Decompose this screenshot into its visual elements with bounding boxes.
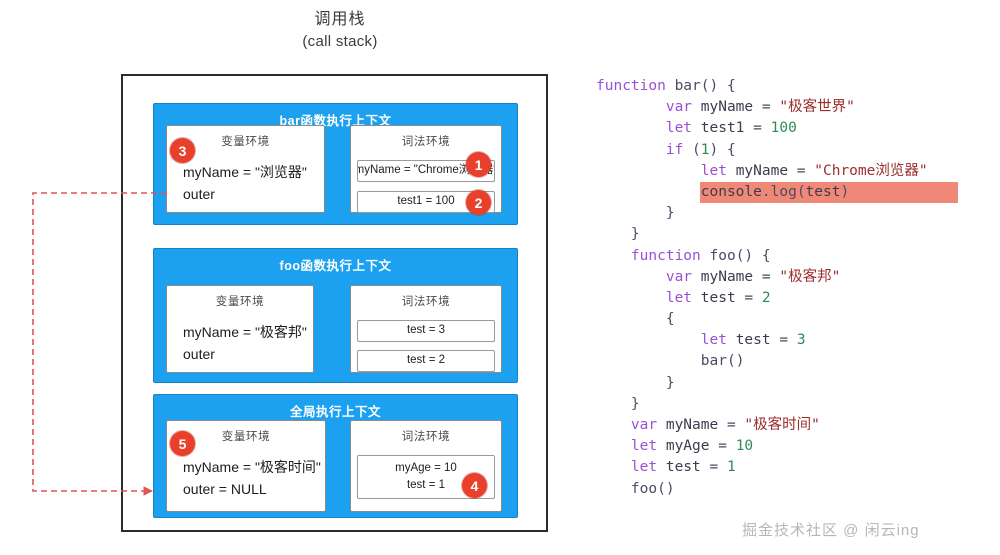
code-line: if (1) { [596, 140, 990, 161]
code-line: } [596, 224, 990, 245]
code-line: let myAge = 10 [596, 436, 990, 457]
code-line: let test = 3 [596, 330, 990, 351]
code-line: var myName = "极客世界" [596, 97, 990, 118]
variable-environment-bindings-global: myName = "极客时间" outer = NULL [183, 457, 317, 500]
lexical-slot-foo-test2: test = 2 [357, 350, 495, 372]
code-line: } [596, 203, 990, 224]
step-badge-3: 3 [170, 138, 195, 163]
step-badge-1: 1 [466, 152, 491, 177]
code-line: } [596, 373, 990, 394]
code-line: let test1 = 100 [596, 118, 990, 139]
diagram-title: 调用栈 (call stack) [240, 8, 440, 53]
context-title-global: 全局执行上下文 [154, 401, 517, 420]
code-line: let test = 2 [596, 288, 990, 309]
code-line: } [596, 394, 990, 415]
step-badge-5: 5 [170, 431, 195, 456]
code-line: var myName = "极客邦" [596, 267, 990, 288]
source-code-listing: function bar() { var myName = "极客世界" let… [596, 76, 990, 500]
lexical-environment-label-global: 词法环境 [351, 428, 501, 444]
diagram-canvas: 调用栈 (call stack) bar函数执行上下文 变量环境 myName … [0, 0, 1000, 555]
variable-environment-foo: 变量环境 myName = "极客邦" outer [166, 285, 314, 373]
watermark: 掘金技术社区 @ 闲云ing [742, 519, 920, 540]
lexical-slot-foo-test3: test = 3 [357, 320, 495, 342]
code-line: foo() [596, 479, 990, 500]
code-line: let test = 1 [596, 457, 990, 478]
step-badge-4: 4 [462, 473, 487, 498]
code-line: { [596, 309, 990, 330]
code-line: function bar() { [596, 76, 990, 97]
variable-environment-label-foo: 变量环境 [167, 293, 313, 309]
step-badge-2: 2 [466, 190, 491, 215]
code-line: let myName = "Chrome浏览器" [596, 161, 990, 182]
context-title-foo: foo函数执行上下文 [154, 255, 517, 274]
variable-environment-bindings-foo: myName = "极客邦" outer [183, 322, 305, 365]
lexical-environment-label: 词法环境 [351, 133, 501, 149]
code-line: var myName = "极客时间" [596, 415, 990, 436]
title-english: (call stack) [240, 31, 440, 53]
code-line: console.log(test) [596, 182, 990, 203]
lexical-environment-label-foo: 词法环境 [351, 293, 501, 309]
code-line: bar() [596, 351, 990, 372]
code-line: function foo() { [596, 246, 990, 267]
variable-environment-bindings: myName = "浏览器" outer [183, 162, 316, 205]
title-chinese: 调用栈 [240, 8, 440, 31]
variable-environment-bar: 变量环境 myName = "浏览器" outer [166, 125, 325, 213]
